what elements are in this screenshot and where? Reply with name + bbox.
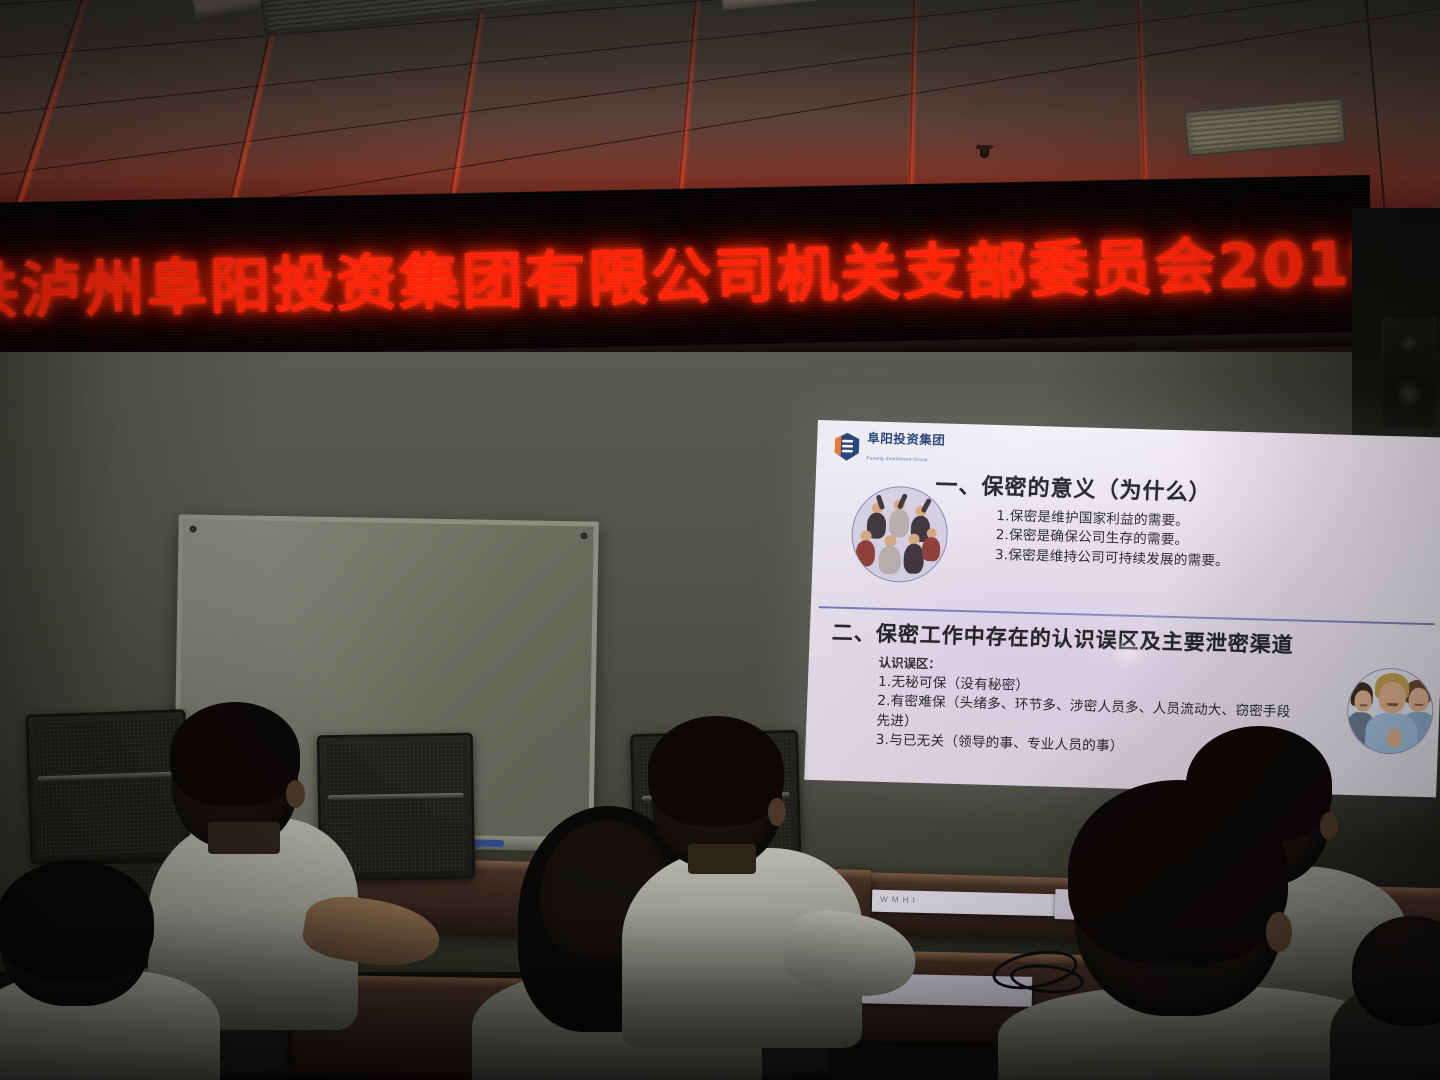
attendee-right-edge (1330, 940, 1440, 1080)
meeting-room-photo: 共泸州阜阳投资集团有限公司机关支部委员会2019年6月固定党日 (0, 0, 1440, 1080)
slide-logo: 阜阳投资集团 Fuyang Investment Group (832, 429, 945, 466)
attendee-hair (0, 860, 154, 980)
speaker-driver (1398, 332, 1420, 354)
attendee-neck (208, 822, 280, 854)
ceiling-air-vent (1183, 97, 1346, 157)
attendee-hair (170, 702, 300, 806)
attendee-neck (688, 844, 756, 874)
section-one-title: 一、保密的意义（为什么） (935, 467, 1436, 513)
attendee-front-left (0, 900, 240, 1080)
attendee-white-shirt-center (596, 724, 916, 1044)
vent-slats (263, 0, 657, 31)
attendee-hair (1068, 780, 1288, 964)
logo-wordmark: 阜阳投资集团 Fuyang Investment Group (866, 430, 945, 466)
ceiling-beam (718, 0, 883, 10)
speaker-driver (1396, 380, 1422, 406)
attendee-ear (768, 798, 786, 826)
sprinkler-head (980, 145, 989, 158)
led-banner-text: 共泸州阜阳投资集团有限公司机关支部委员会2019年6月固定党日 (0, 204, 1373, 330)
slide-section-one: 一、保密的意义（为什么） 1.保密是维护国家利益的需要。 2.保密是确保公司生存… (933, 467, 1437, 577)
attendee-ear (1266, 912, 1292, 952)
vent-slats (1189, 103, 1342, 152)
attendee-ear (286, 780, 305, 808)
attendee-hair (648, 716, 784, 826)
logo-name-cn: 阜阳投资集团 (867, 430, 946, 447)
led-ceiling-glow (7, 0, 104, 230)
wall-speaker (1382, 318, 1436, 428)
logo-name-en: Fuyang Investment Group (866, 455, 927, 462)
section-one-body: 1.保密是维护国家利益的需要。 2.保密是确保公司生存的需要。 3.保密是维持公… (995, 507, 1435, 577)
company-logo-icon (832, 431, 861, 462)
